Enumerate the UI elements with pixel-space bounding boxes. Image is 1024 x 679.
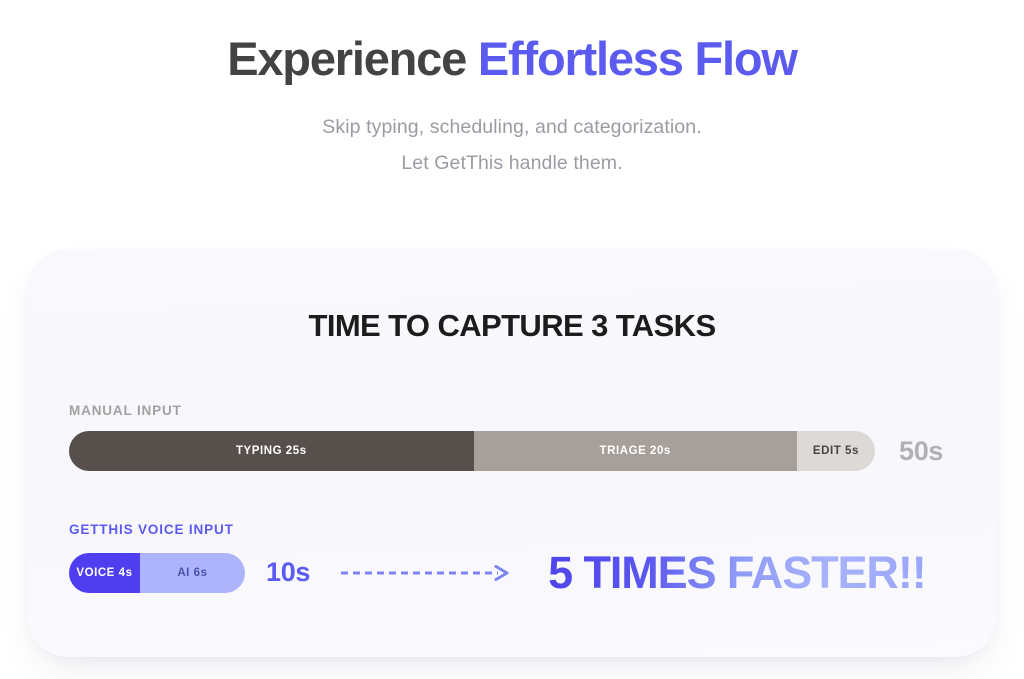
dashed-arrow-right-icon (340, 565, 516, 581)
faster-claim-light: FASTER!! (727, 547, 926, 598)
manual-input-row: MANUAL INPUT TYPING 25s TRIAGE 20s EDIT … (69, 403, 955, 471)
landing-section: Experience Effortless Flow Skip typing, … (0, 0, 1024, 679)
faster-claim-strong: 5 TIMES (548, 547, 727, 598)
page-title: Experience Effortless Flow (0, 30, 1024, 87)
hero-block: Experience Effortless Flow Skip typing, … (0, 0, 1024, 181)
page-title-accent: Effortless Flow (478, 32, 797, 85)
hero-subtitle-line-2: Let GetThis handle them. (0, 145, 1024, 181)
card-title: TIME TO CAPTURE 3 TASKS (27, 308, 997, 344)
voice-stacked-bar: VOICE 4s AI 6s (69, 553, 245, 593)
page-title-plain: Experience (227, 32, 478, 85)
manual-total-label: 50s (899, 436, 943, 467)
voice-bar-line: VOICE 4s AI 6s 10s 5 TIMES FASTER!! (69, 550, 955, 595)
manual-stacked-bar: TYPING 25s TRIAGE 20s EDIT 5s (69, 431, 875, 471)
voice-segment-ai[interactable]: AI 6s (140, 553, 245, 593)
hero-subtitle-line-1: Skip typing, scheduling, and categorizat… (0, 109, 1024, 145)
manual-input-label: MANUAL INPUT (69, 403, 955, 418)
manual-bar-line: TYPING 25s TRIAGE 20s EDIT 5s 50s (69, 431, 955, 471)
comparison-card: TIME TO CAPTURE 3 TASKS MANUAL INPUT TYP… (27, 249, 997, 657)
voice-input-label: GETTHIS VOICE INPUT (69, 522, 955, 537)
voice-segment-voice[interactable]: VOICE 4s (69, 553, 140, 593)
voice-total-label: 10s (266, 557, 310, 588)
manual-segment-edit[interactable]: EDIT 5s (797, 431, 875, 471)
faster-claim: 5 TIMES FASTER!! (548, 550, 925, 595)
manual-segment-triage[interactable]: TRIAGE 20s (474, 431, 797, 471)
voice-input-row: GETTHIS VOICE INPUT VOICE 4s AI 6s 10s 5… (69, 522, 955, 595)
hero-subtitle: Skip typing, scheduling, and categorizat… (0, 109, 1024, 181)
manual-segment-typing[interactable]: TYPING 25s (69, 431, 474, 471)
